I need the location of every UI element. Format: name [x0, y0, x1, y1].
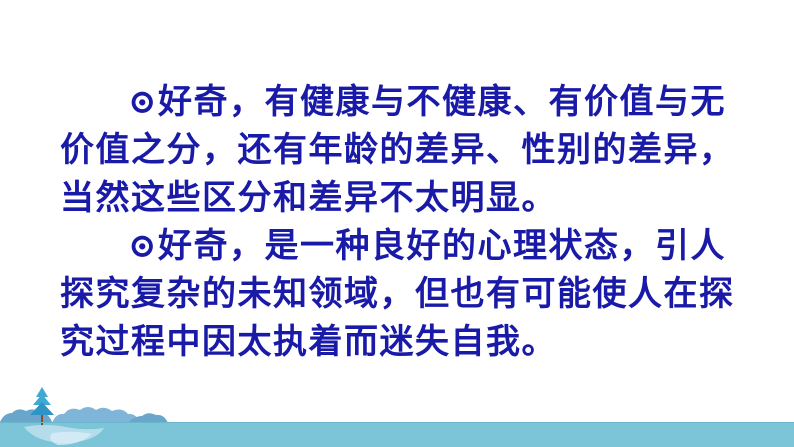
water-reflection-light: [50, 432, 92, 445]
water-band: [0, 422, 794, 447]
tree-canopy-mid: [33, 394, 51, 405]
water-reflection: [24, 425, 104, 443]
bush-right: [128, 413, 168, 423]
slide-canvas: ⊙好奇，有健康与不健康、有价值与无价值之分，还有年龄的差异、性别的差异，当然这些…: [0, 0, 794, 447]
paragraph-1: ⊙好奇，有健康与不健康、有价值与无价值之分，还有年龄的差异、性别的差异，当然这些…: [60, 78, 750, 222]
waterline: [0, 422, 794, 423]
tree-canopy-bottom: [30, 402, 54, 415]
paragraph-2: ⊙好奇，是一种良好的心理状态，引人探究复杂的未知领域，但也有可能使人在探究过程中…: [60, 222, 750, 366]
bush-center: [52, 407, 140, 423]
slide-text-body: ⊙好奇，有健康与不健康、有价值与无价值之分，还有年龄的差异、性别的差异，当然这些…: [60, 78, 750, 366]
bottom-decoration: [0, 385, 794, 447]
tree-canopy-top: [36, 387, 48, 397]
tree-trunk: [41, 396, 43, 426]
bush-left-back: [0, 409, 52, 422]
lakeside-scenery-icon: [0, 385, 794, 447]
